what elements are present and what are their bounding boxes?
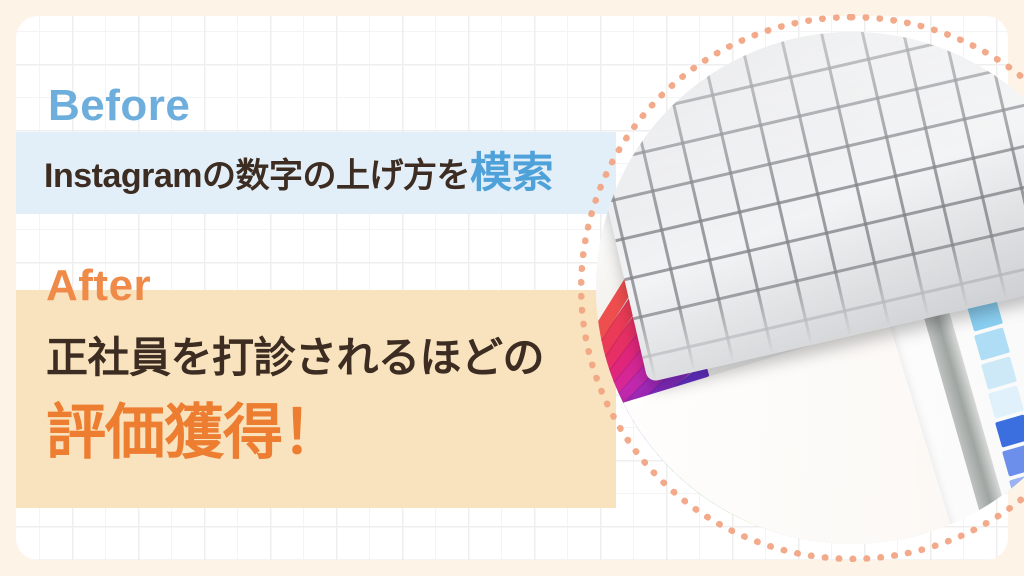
before-label: Before (48, 84, 190, 128)
after-label: After (46, 264, 151, 308)
before-text-highlight: 模索 (470, 149, 553, 196)
before-text-plain: Instagramの数字の上げ方を (44, 157, 470, 195)
slide-canvas: Before Instagramの数字の上げ方を模索 After 正社員を打診さ… (0, 0, 1024, 576)
after-text-line2: 評価獲得！ (46, 403, 341, 463)
photo-circle-wrap (578, 14, 1024, 562)
after-text-line1: 正社員を打診されるほどの (46, 337, 544, 379)
before-text: Instagramの数字の上げ方を模索 (44, 152, 553, 194)
